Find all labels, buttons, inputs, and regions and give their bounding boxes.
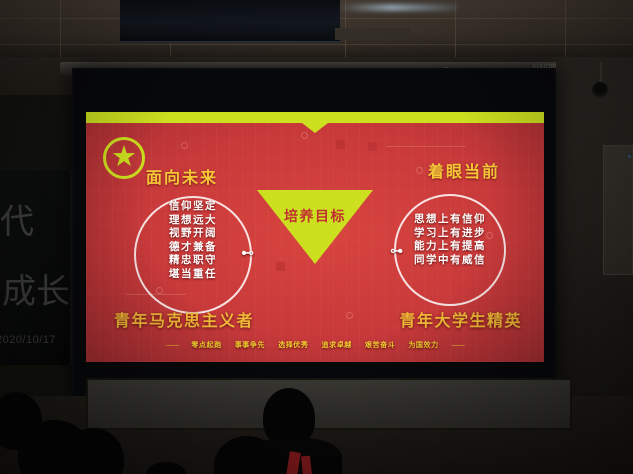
- circle-text-line: 德才兼备: [134, 241, 252, 255]
- slogan-strip: —— 零点起跑 事事争先 选择优秀 追求卓越 艰苦奋斗 为国效力 ——: [86, 340, 544, 350]
- whiteboard: [86, 378, 572, 430]
- circle-text-line: 精忠职守: [134, 254, 252, 268]
- red-star-badge-icon: ★: [103, 137, 145, 179]
- slogan-item: 为国效力: [408, 340, 438, 350]
- circle-text-line: 同学中有威信: [394, 254, 506, 268]
- blackboard: 代 成长 2020/10/17: [0, 170, 72, 365]
- circle-text-line: 学习上有进步: [394, 227, 506, 241]
- panel-led-indicator: [628, 155, 631, 158]
- circle-left-text-block: 信仰坚定理想远大视野开阔德才兼备精忠职守堪当重任: [134, 200, 252, 281]
- dome-camera-icon: [592, 82, 608, 98]
- connector-right-icon: ⊶: [390, 244, 403, 257]
- circle-text-line: 理想远大: [134, 214, 252, 228]
- chalk-date: 2020/10/17: [0, 335, 56, 346]
- projection-screen: ★ 面向未来 着眼当前 信仰坚定理想远大视野开阔德才兼备精忠职守堪当重任 思想上…: [72, 68, 556, 398]
- heading-left: 面向未来: [146, 164, 218, 188]
- slogan-item: 事事争先: [235, 340, 265, 350]
- slogan-item: 选择优秀: [278, 340, 308, 350]
- slogan-dash-right: ——: [452, 342, 464, 349]
- circle-text-line: 思想上有信仰: [394, 213, 506, 227]
- chalk-text-line-1: 代: [0, 205, 34, 239]
- circle-text-line: 信仰坚定: [134, 200, 252, 214]
- connector-left-icon: ⊷: [241, 246, 254, 259]
- slide-top-accent-bar: [86, 112, 544, 123]
- wall-control-panel: [603, 145, 633, 275]
- heading-right: 着眼当前: [428, 158, 500, 182]
- presentation-slide: ★ 面向未来 着眼当前 信仰坚定理想远大视野开阔德才兼备精忠职守堪当重任 思想上…: [86, 112, 544, 362]
- slogan-item: 追求卓越: [322, 340, 352, 350]
- classroom-photo-scene: ELECTRIC SCREEN 代 成长 2020/10/17: [0, 0, 633, 474]
- slogan-item: 零点起跑: [191, 340, 221, 350]
- circle-text-line: 视野开阔: [134, 227, 252, 241]
- circle-text-line: 堪当重任: [134, 268, 252, 282]
- projector-lens-glow: [338, 4, 458, 11]
- chalk-text-line-2: 成长: [2, 275, 70, 309]
- ceiling-bracket: [335, 28, 410, 40]
- center-triangle-label: 培养目标: [284, 206, 346, 226]
- ceiling-projector-unit: [120, 0, 340, 43]
- bottom-title-right: 青年大学生精英: [399, 307, 522, 331]
- circle-text-line: 能力上有提高: [394, 240, 506, 254]
- slide-top-notch-icon: [302, 123, 328, 133]
- center-triangle-shape: [257, 190, 373, 264]
- circle-right-text-block: 思想上有信仰学习上有进步能力上有提高同学中有威信: [394, 213, 506, 267]
- star-glyph: ★: [111, 143, 137, 172]
- camera-stalk: [600, 62, 602, 84]
- bottom-title-left: 青年马克思主义者: [114, 307, 254, 331]
- slogan-item: 艰苦奋斗: [365, 340, 395, 350]
- ceiling: [0, 0, 633, 60]
- slogan-dash-left: ——: [166, 342, 178, 349]
